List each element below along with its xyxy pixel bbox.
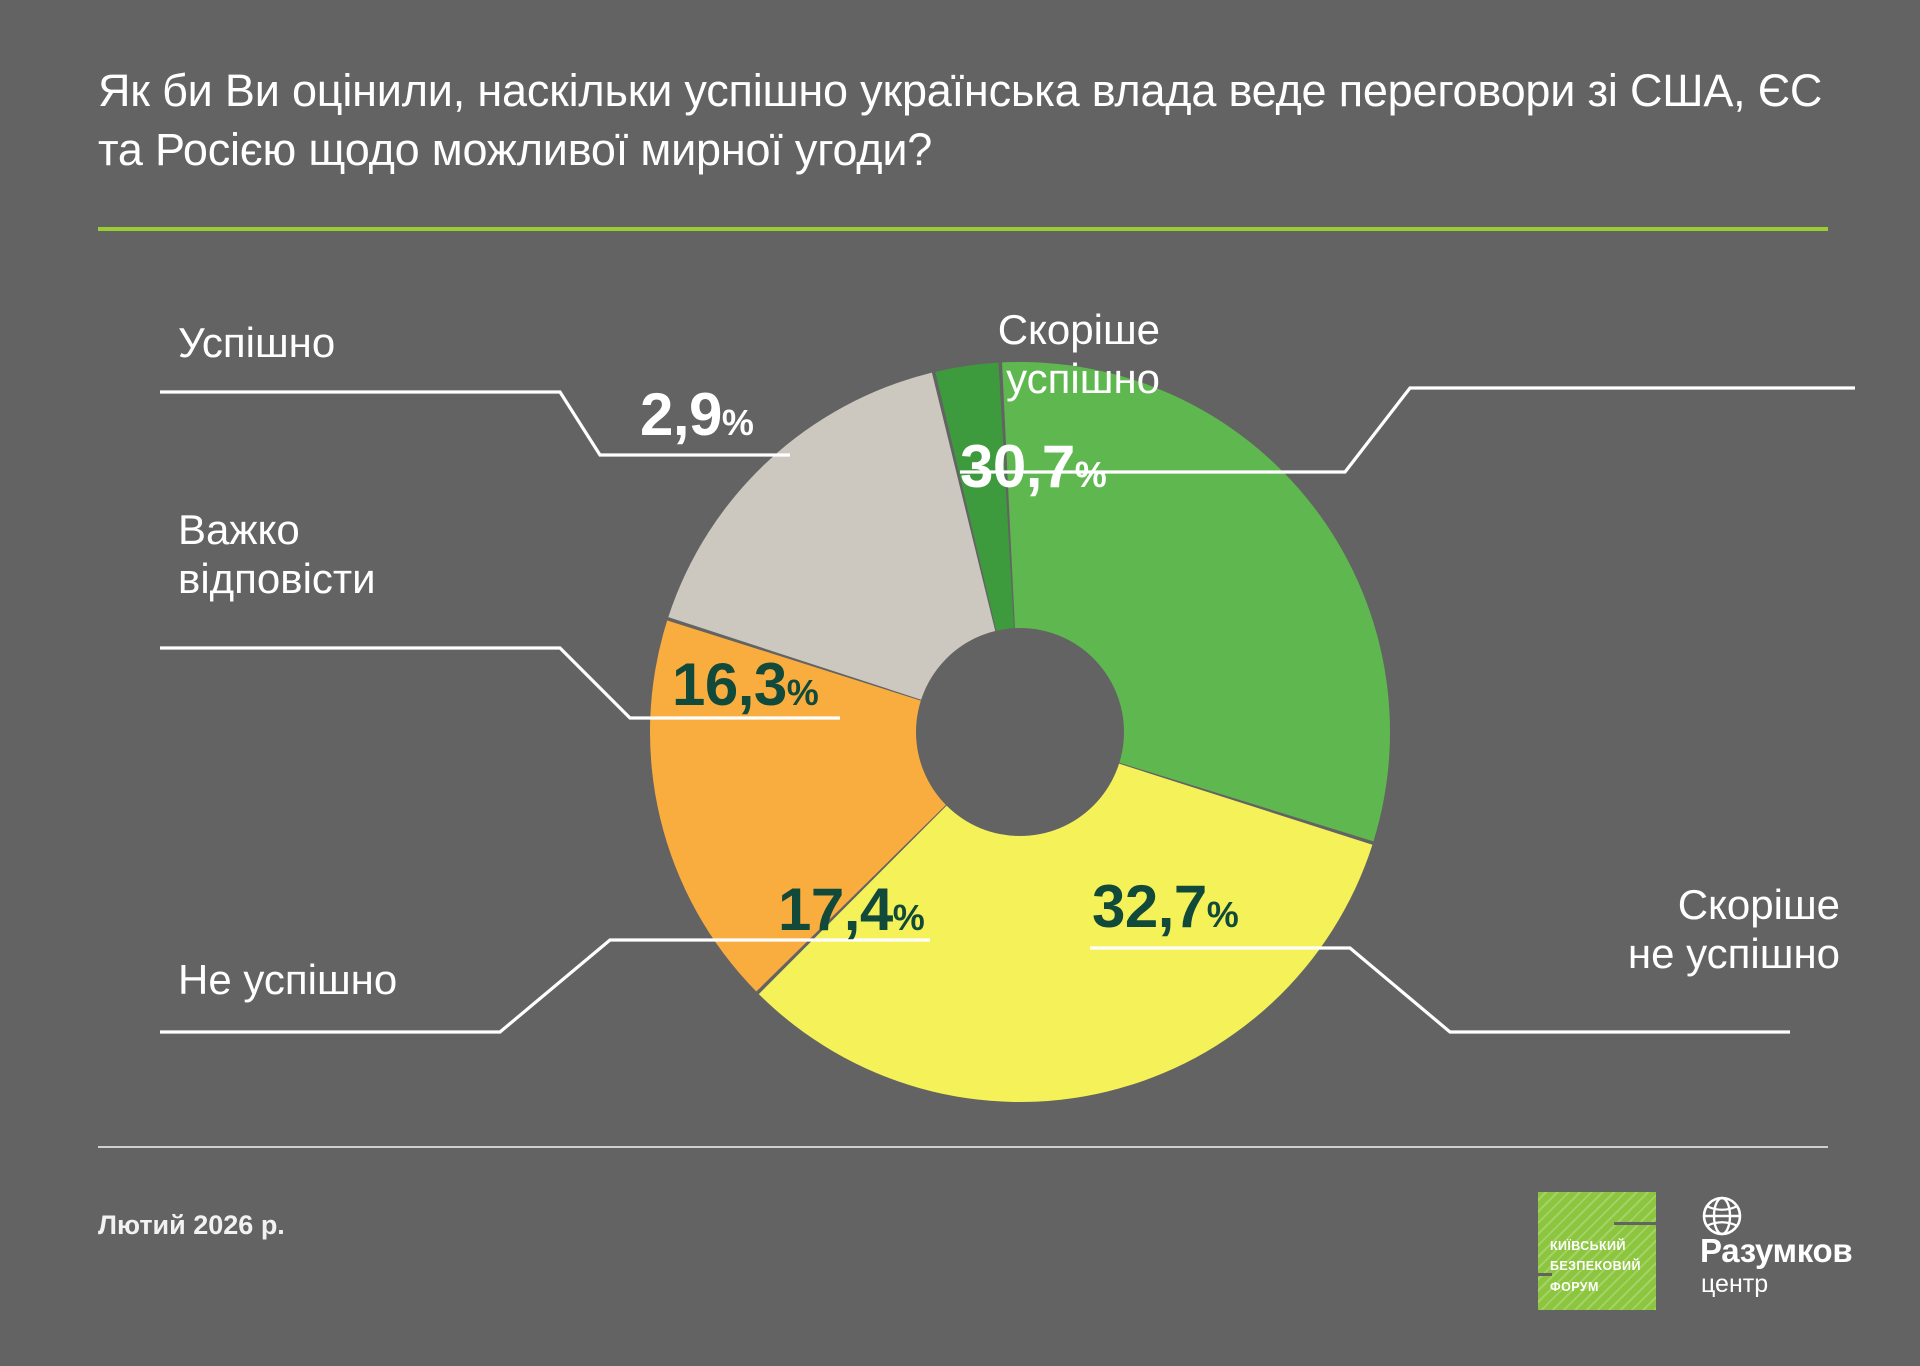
value-ne-uspishno: 17,4%: [778, 880, 925, 940]
callout-label-ne-uspishno: Не успішно: [178, 955, 397, 1004]
value-skorishe-ne-uspishno-percent: %: [1207, 894, 1239, 935]
kbf-notch-top-icon: [1614, 1222, 1656, 1225]
callout-label-skorishe-uspishno: Скоріше успішно: [760, 305, 1160, 403]
value-skorishe-uspishno: 30,7%: [960, 437, 1107, 497]
footer-divider: [98, 1146, 1828, 1148]
value-skorishe-uspishno-number: 30,7: [960, 433, 1075, 500]
donut-hole: [916, 628, 1124, 836]
callout-label-vazhko: Важко відповісти: [178, 505, 376, 603]
value-vazhko-number: 16,3: [672, 651, 787, 718]
value-ne-uspishno-number: 17,4: [778, 876, 893, 943]
callout-label-skorishe-ne-uspishno: Скоріше не успішно: [1440, 880, 1840, 978]
footer-date: Лютий 2026 р.: [98, 1210, 285, 1241]
value-skorishe-ne-uspishno: 32,7%: [1092, 877, 1239, 937]
page-title: Як би Ви оцінили, наскільки успішно укра…: [98, 62, 1828, 179]
callout-label-uspishno: Успішно: [178, 318, 335, 367]
kbf-logo-text: КИЇВСЬКИЙ БЕЗПЕКОВИЙ ФОРУМ: [1550, 1236, 1641, 1297]
value-skorishe-uspishno-percent: %: [1075, 454, 1107, 495]
razumkov-name: Разумков: [1700, 1232, 1852, 1270]
title-divider: [98, 227, 1828, 231]
razumkov-sub: центр: [1701, 1270, 1768, 1299]
value-skorishe-ne-uspishno-number: 32,7: [1092, 873, 1207, 940]
value-vazhko-percent: %: [787, 672, 819, 713]
value-uspishno-percent: %: [722, 402, 754, 443]
logo-razumkov-centre: Разумков центр: [1700, 1192, 1890, 1310]
value-uspishno-number: 2,9: [640, 381, 722, 448]
value-ne-uspishno-percent: %: [893, 897, 925, 938]
infographic-canvas: Як би Ви оцінили, наскільки успішно укра…: [0, 0, 1920, 1366]
logo-kyiv-security-forum: КИЇВСЬКИЙ БЕЗПЕКОВИЙ ФОРУМ: [1538, 1192, 1656, 1310]
value-uspishno: 2,9%: [640, 385, 754, 445]
value-vazhko: 16,3%: [672, 655, 819, 715]
